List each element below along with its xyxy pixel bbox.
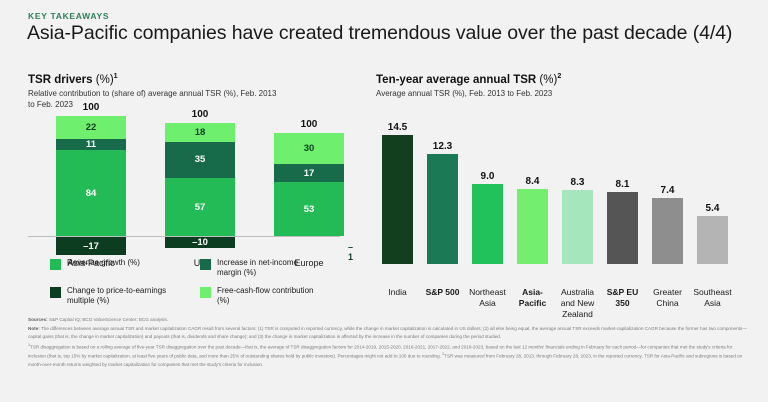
bar-rect: [607, 192, 638, 264]
stack-segment: 17: [274, 164, 344, 182]
left-chart-title-text: TSR drivers: [28, 74, 93, 86]
bar-rect: [472, 184, 503, 264]
bar-rect: [382, 135, 413, 264]
bar-value-label: 8.1: [607, 179, 638, 190]
ten-year-tsr-panel: Ten-year average annual TSR (%)2 Average…: [376, 72, 756, 264]
stack-segment: 22: [56, 116, 126, 139]
bar-value-label: 8.3: [562, 177, 593, 188]
left-chart-title-unit: (%): [96, 74, 114, 86]
bar-value-label: 8.4: [517, 176, 548, 187]
bar-column: 7.4Greater China: [652, 135, 683, 264]
right-chart-title-sup: 2: [557, 72, 561, 80]
legend: Revenue growth (%)Increase in net-income…: [50, 258, 350, 314]
legend-swatch-icon: [50, 259, 61, 270]
bar-value-label: 12.3: [427, 141, 458, 152]
bar-column: 14.5India: [382, 135, 413, 264]
left-chart-title-sup: 1: [114, 72, 118, 80]
ten-year-tsr-plot: 14.5India12.3S&P 5009.0Northeast Asia8.4…: [376, 114, 756, 264]
bar-category-label: India: [375, 287, 420, 298]
legend-swatch-icon: [50, 287, 61, 298]
stack-segment: 35: [165, 142, 235, 178]
bar-category-label: Northeast Asia: [465, 287, 510, 309]
slide-canvas: KEY TAKEAWAYS Asia-Pacific companies hav…: [0, 0, 768, 402]
bar-rect: [427, 154, 458, 263]
legend-swatch-icon: [200, 287, 211, 298]
eyebrow-key-takeaways: KEY TAKEAWAYS: [28, 11, 109, 21]
legend-swatch-icon: [200, 259, 211, 270]
legend-label: Revenue growth (%): [67, 258, 140, 268]
footnote-note-label: Note:: [28, 326, 40, 331]
bar-value-label: 5.4: [697, 203, 728, 214]
legend-label: Increase in net-income margin (%): [217, 258, 322, 279]
legend-row: Change to price-to-earnings multiple (%)…: [50, 286, 350, 307]
tsr-drivers-panel: TSR drivers (%)1 Relative contribution t…: [28, 72, 328, 274]
footnote-note: Note: The differences between average an…: [28, 325, 748, 341]
tsr-drivers-plot: –1 841122100–17Asia-Pacific573518100–10U…: [28, 124, 328, 274]
bar-value-label: 7.4: [652, 185, 683, 196]
stack-segment: 30: [274, 133, 344, 164]
bar-value-label: 14.5: [382, 122, 413, 133]
right-chart-title-unit: (%): [539, 74, 557, 86]
bar-rect: [517, 189, 548, 264]
right-chart-title: Ten-year average annual TSR (%)2: [376, 72, 756, 86]
legend-item: Free-cash-flow contribution (%): [200, 286, 350, 307]
left-chart-title: TSR drivers (%)1: [28, 72, 328, 86]
bar-column: 8.4Asia-Pacific: [517, 135, 548, 264]
stack-segment: 84: [56, 150, 126, 237]
bar-category-label: S&P 500: [420, 287, 465, 298]
bar-category-label: Australia and New Zealand: [555, 287, 600, 320]
right-chart-title-text: Ten-year average annual TSR: [376, 74, 536, 86]
right-chart-subtitle: Average annual TSR (%), Feb. 2013 to Feb…: [376, 89, 626, 100]
bar-value-label: 9.0: [472, 171, 503, 182]
stack-total-label: 100: [56, 102, 126, 113]
bar-column: 8.3Australia and New Zealand: [562, 135, 593, 264]
page-title: Asia-Pacific companies have created trem…: [27, 22, 758, 45]
footnote-sources-label: Sources:: [28, 317, 48, 322]
bar-category-label: S&P EU 350: [600, 287, 645, 309]
bar-column: 5.4Southeast Asia: [697, 135, 728, 264]
legend-item: Revenue growth (%): [50, 258, 200, 279]
stack-segment: 11: [56, 139, 126, 150]
stack-segment: 18: [165, 123, 235, 142]
bar-category-label: Greater China: [645, 287, 690, 309]
footnote-1: 1TSR disaggregation is based on a rollin…: [28, 342, 748, 369]
bar-column: 12.3S&P 500: [427, 135, 458, 264]
stack-negative-segment: –10: [165, 237, 235, 247]
bar-category-label: Asia-Pacific: [510, 287, 555, 309]
bar-category-label: Southeast Asia: [690, 287, 735, 309]
legend-item: Change to price-to-earnings multiple (%): [50, 286, 200, 307]
bar-column: 9.0Northeast Asia: [472, 135, 503, 264]
stack-total-label: 100: [165, 109, 235, 120]
bar-column: 8.1S&P EU 350: [607, 135, 638, 264]
stack-segment: 57: [165, 178, 235, 237]
legend-row: Revenue growth (%)Increase in net-income…: [50, 258, 350, 279]
stack-segment: 53: [274, 182, 344, 237]
bar-rect: [562, 190, 593, 264]
stack-negative-segment: –17: [56, 237, 126, 255]
legend-item: Increase in net-income margin (%): [200, 258, 350, 279]
footnote-sources: Sources: S&P Capital IQ; BCG ValueScienc…: [28, 316, 748, 324]
bar-rect: [697, 216, 728, 264]
footnote-note-text: The differences between average annual T…: [28, 326, 747, 339]
footnotes: Sources: S&P Capital IQ; BCG ValueScienc…: [28, 316, 748, 369]
legend-label: Free-cash-flow contribution (%): [217, 286, 322, 307]
legend-label: Change to price-to-earnings multiple (%): [67, 286, 172, 307]
bar-rect: [652, 198, 683, 264]
footnote-sources-text: S&P Capital IQ; BCG ValueScience Center;…: [49, 317, 168, 322]
stack-total-label: 100: [274, 119, 344, 130]
